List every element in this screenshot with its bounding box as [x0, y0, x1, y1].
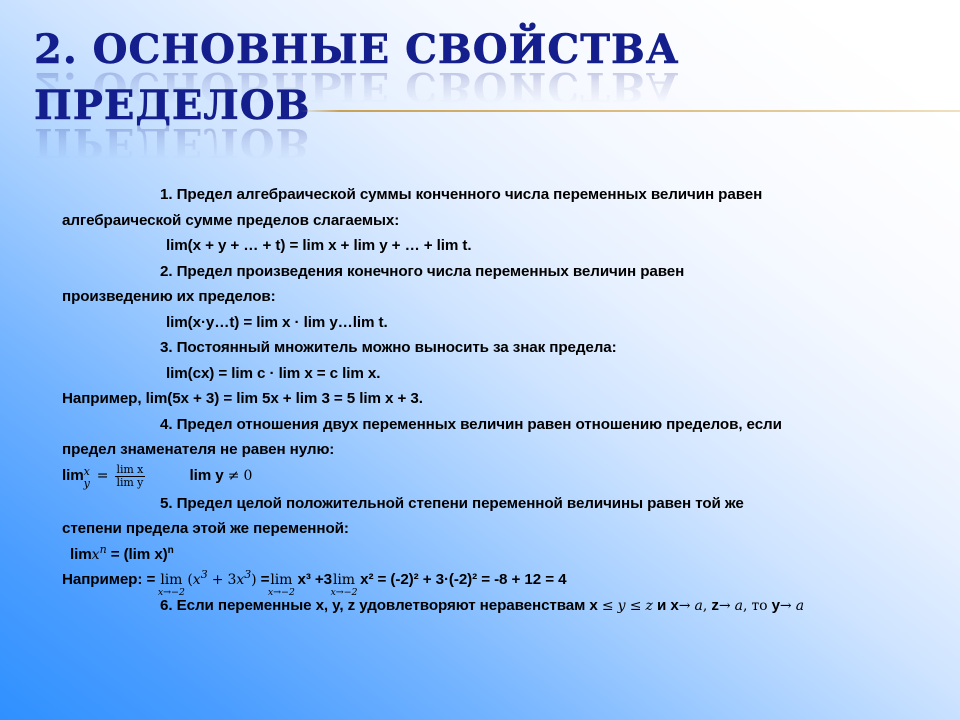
- property-4-ratio: xy: [84, 466, 93, 480]
- example-lim-3-subscript: x→−2: [331, 586, 358, 600]
- example-term-3: x²: [360, 571, 373, 588]
- property-3-line-1: 3. Постоянный множитель можно выносить з…: [62, 335, 942, 361]
- slide-canvas: 2. ОСНОВНЫЕ СВОЙСТВА 2. ОСНОВНЫЕ СВОЙСТВ…: [0, 0, 960, 720]
- property-5-lim-label: lim: [70, 546, 92, 563]
- example-lim-1: limx→−2: [160, 573, 182, 587]
- slide-body: 1. Предел алгебраической суммы конченног…: [62, 182, 942, 618]
- property-6-z-2: z: [711, 597, 719, 614]
- property-5-rhs-exponent: n: [168, 544, 174, 555]
- property-2-formula: lim(x·y…t) = lim x · lim y…lim t.: [62, 310, 942, 336]
- property-6-y: y: [618, 598, 626, 614]
- property-5-rhs: (lim x): [124, 546, 168, 563]
- example-lim-3: limx→−2: [333, 573, 355, 587]
- property-4-condition-value: 0: [244, 468, 253, 484]
- property-5-example: Например: = limx→−2 (x3 + 3x3) =limx→−2 …: [62, 567, 942, 593]
- example-plus: +: [212, 572, 224, 588]
- property-6-a-3: a: [796, 598, 804, 614]
- property-3-example: Например, lim(5x + 3) = lim 5x + lim 3 =…: [62, 386, 942, 412]
- property-6-x: x: [589, 597, 597, 614]
- example-label: Например:: [62, 571, 142, 588]
- property-3-formula: lim(cx) = lim c · lim x = c lim x.: [62, 361, 942, 387]
- property-4-condition-lim: lim y: [189, 467, 223, 484]
- property-1-line-2: алгебраической сумме пределов слагаемых:: [62, 208, 942, 234]
- example-equals-1: =: [146, 571, 155, 588]
- property-4-formula: limxy = lim x lim y lim y ≠ 0: [62, 463, 942, 491]
- property-6: 6. Если переменные x, y, z удовлетворяют…: [62, 593, 942, 619]
- property-5-line-2: степени предела этой же переменной:: [62, 516, 942, 542]
- example-term-a-exponent: 3: [201, 568, 208, 581]
- property-5-base: x: [92, 547, 100, 563]
- property-6-le-2: ≤: [630, 598, 642, 614]
- property-5-formula: limxn = (lim x)n: [62, 542, 942, 568]
- property-5-exponent: n: [100, 542, 107, 555]
- title-line-2-wrap: ПРЕДЕЛОВ ПРЕДЕЛОВ: [34, 84, 774, 140]
- property-1-line-1: 1. Предел алгебраической суммы конченног…: [62, 182, 942, 208]
- title-line-1-wrap: 2. ОСНОВНЫЕ СВОЙСТВА 2. ОСНОВНЫЕ СВОЙСТВ…: [34, 28, 774, 84]
- property-6-arrow-3: →: [780, 598, 792, 614]
- property-1-formula: lim(x + y + … + t) = lim x + lim y + … +…: [62, 233, 942, 259]
- property-4-line-1: 4. Предел отношения двух переменных вели…: [62, 412, 942, 438]
- example-term-b-coefficient: 3: [228, 572, 237, 588]
- property-6-arrow-1: →: [679, 598, 691, 614]
- property-2-line-2: произведению их пределов:: [62, 284, 942, 310]
- property-6-le-1: ≤: [602, 598, 614, 614]
- property-6-a-1: a: [695, 598, 703, 614]
- example-term-a: x: [193, 572, 201, 588]
- property-4-equals: =: [97, 468, 109, 484]
- title-line-2: ПРЕДЕЛОВ: [34, 84, 774, 128]
- property-4-denominator: y: [84, 471, 90, 497]
- property-4-frac-denominator: lim y: [115, 476, 146, 489]
- property-6-z: z: [645, 598, 652, 614]
- example-paren-close: ): [251, 572, 256, 588]
- property-6-a-2: a: [735, 598, 743, 614]
- gold-divider-line: [300, 110, 960, 112]
- property-6-comma-1: ,: [703, 598, 707, 614]
- property-6-arrow-2: →: [719, 598, 731, 614]
- property-4-frac-numerator: lim x: [115, 464, 146, 476]
- property-2-line-1: 2. Предел произведения конечного числа п…: [62, 259, 942, 285]
- property-4-condition-relation: ≠: [228, 468, 240, 484]
- example-lim-2: limx→−2: [270, 573, 292, 587]
- title-line-1: 2. ОСНОВНЫЕ СВОЙСТВА: [34, 28, 774, 72]
- property-4-line-2: предел знаменателя не равен нулю:: [62, 437, 942, 463]
- property-6-then: то: [751, 598, 767, 614]
- property-6-conjunction: и: [657, 597, 666, 614]
- example-lim-2-subscript: x→−2: [268, 586, 295, 600]
- property-5-equals: =: [111, 546, 120, 563]
- property-5-line-1: 5. Предел целой положительной степени пе…: [62, 491, 942, 517]
- property-6-x-2: x: [670, 597, 678, 614]
- property-6-y-2: y: [772, 597, 780, 614]
- example-lim-1-subscript: x→−2: [158, 586, 185, 600]
- property-6-lead: 6. Если переменные x, y, z удовлетворяют…: [160, 597, 585, 614]
- example-result: = (-2)² + 3·(-2)² = -8 + 12 = 4: [378, 571, 567, 588]
- property-4-fraction: lim x lim y: [115, 464, 146, 489]
- property-6-comma-2: ,: [743, 598, 747, 614]
- property-4-lim-label: lim: [62, 467, 84, 484]
- example-term-2: x³ +: [297, 571, 323, 588]
- slide-title: 2. ОСНОВНЫЕ СВОЙСТВА 2. ОСНОВНЫЕ СВОЙСТВ…: [34, 28, 774, 140]
